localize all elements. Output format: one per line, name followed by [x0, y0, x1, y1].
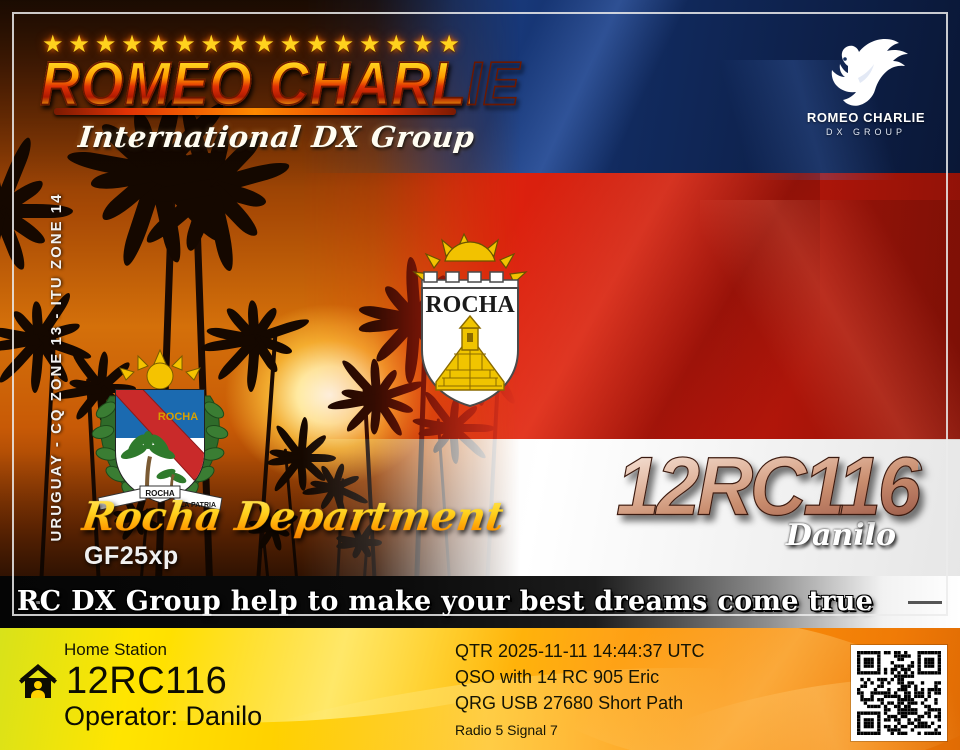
tagline-bar: RC DX Group help to make your best dream… [0, 576, 960, 628]
qso-qrg: QRG USB 27680 Short Path [455, 690, 704, 716]
footer-operator: Operator: Danilo [64, 700, 262, 732]
zone-text: URUGUAY - CQ ZONE 13 - ITU ZONE 14 [48, 157, 72, 577]
tagline-dash-right [908, 601, 942, 604]
dove-logo-line2: DX GROUP [796, 127, 936, 137]
house-icon [18, 662, 58, 700]
qr-code[interactable] [851, 645, 947, 741]
dove-logo: ROMEO CHARLIE DX GROUP [796, 26, 936, 150]
qsl-card: ★★★★★★★★★★★★★★★★ ROMEO CHARLIE Internati… [0, 0, 960, 750]
grid-locator: GF25xp [84, 542, 179, 571]
callsign-graffiti: 12RC116 [560, 441, 918, 531]
rocha-coat-of-arms: ROCHA [398, 232, 542, 418]
callsign-block: 12RC116 Danilo [598, 448, 918, 568]
home-station-label: Home Station [64, 640, 167, 660]
card-artwork: ★★★★★★★★★★★★★★★★ ROMEO CHARLIE Internati… [0, 0, 960, 628]
department-title: Rocha Department [78, 492, 505, 544]
brand-underline [54, 108, 456, 115]
dove-icon [818, 26, 914, 108]
sun-of-may [120, 350, 200, 389]
qso-with: QSO with 14 RC 905 Eric [455, 664, 704, 690]
brand-subtitle: International DX Group [76, 120, 441, 164]
dove-logo-line1: ROMEO CHARLIE [796, 110, 936, 125]
home-station-row: 12RC116 [18, 660, 227, 702]
qso-report: Radio 5 Signal 7 [455, 718, 704, 742]
tagline-text: RC DX Group help to make your best dream… [0, 576, 960, 628]
svg-text:ROCHA: ROCHA [425, 292, 515, 318]
qso-qtr: QTR 2025-11-11 14:44:37 UTC [455, 638, 704, 664]
qso-details: QTR 2025-11-11 14:44:37 UTC QSO with 14 … [455, 638, 704, 742]
svg-text:ROCHA: ROCHA [158, 411, 198, 423]
footer-callsign: 12RC116 [66, 660, 227, 702]
